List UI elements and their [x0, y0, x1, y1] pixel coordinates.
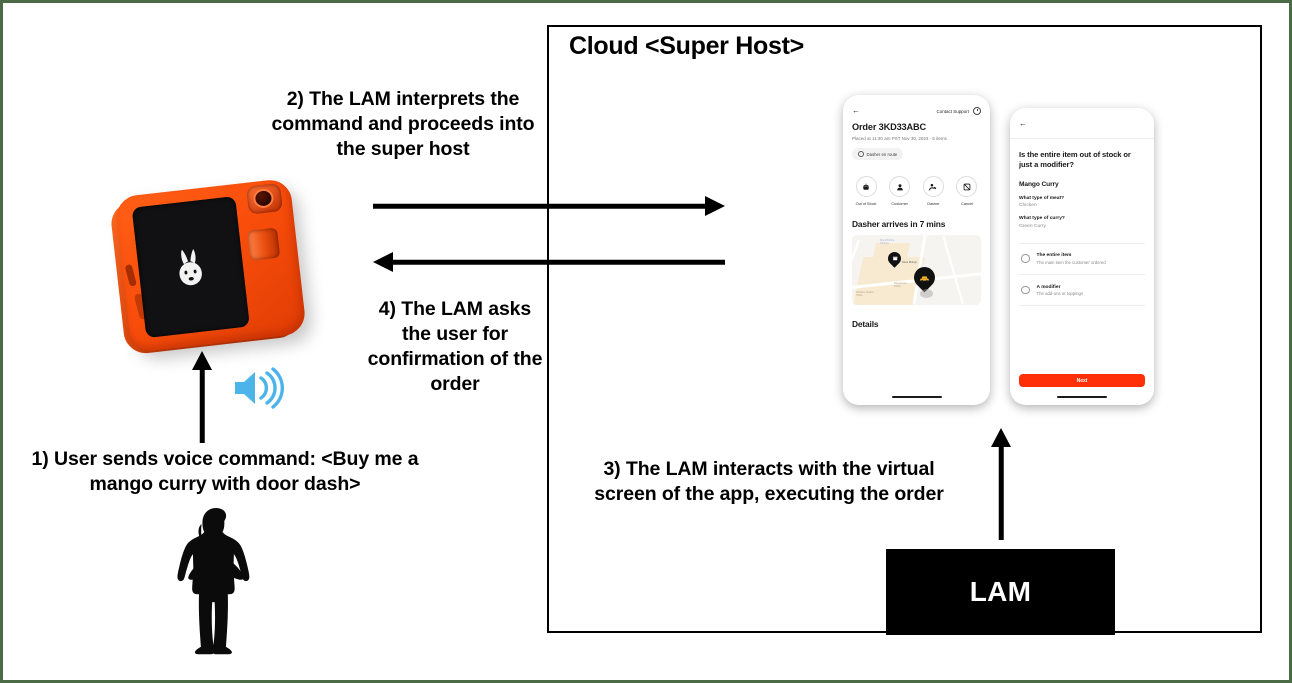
arrow-head [373, 252, 393, 272]
back-arrow-icon[interactable]: ← [852, 107, 860, 115]
map-poi-label: Wilshire Station Office [856, 291, 874, 297]
arrow-shaft [999, 446, 1004, 540]
order-eta-section: Dasher arrives in 7 mins Mid-Wilshire Pa… [843, 219, 990, 329]
lam-label: LAM [970, 576, 1032, 608]
modifier-2: What type of curry? Green Curry [1019, 216, 1145, 229]
radio-button[interactable] [1021, 286, 1030, 295]
arrow-lam-to-screens [990, 428, 1012, 540]
order-topbar: ← Contact Support [843, 95, 990, 119]
option-entire-item[interactable]: The entire item The main item the custom… [1019, 243, 1145, 274]
lam-box: LAM [886, 549, 1115, 635]
rabbit-r1-device[interactable] [102, 168, 326, 368]
option-text: The entire item The main item the custom… [1037, 253, 1106, 265]
option-title: The entire item [1037, 253, 1106, 258]
note-step4: 4) The LAM asks the user for confirmatio… [355, 297, 555, 397]
back-arrow-icon[interactable]: ← [1019, 120, 1027, 128]
modifier-question: What type of curry? [1019, 216, 1145, 221]
action-customer[interactable]: Customer [887, 176, 913, 206]
option-subtitle: The main item the customer ordered [1037, 260, 1106, 265]
option-subtitle: The add-ons or toppings [1037, 291, 1084, 296]
delivery-map[interactable]: Mid-Wilshire Parking Restaurant Plaza Wi… [852, 235, 981, 305]
map-store-label: Store Pickup [902, 261, 917, 264]
arrow-shaft [200, 369, 205, 443]
modifier-question: What type of meat? [1019, 196, 1145, 201]
arrow-head [705, 196, 725, 216]
customer-icon [889, 176, 910, 197]
order-action-row: Out of Stock Customer Dasher Cancel [843, 162, 990, 206]
modifier-1: What type of meat? Chicken [1019, 196, 1145, 209]
option-a-modifier[interactable]: A modifier The add-ons or toppings [1019, 275, 1145, 306]
spacer [1019, 229, 1145, 243]
contact-support-link[interactable]: Contact Support [937, 109, 969, 114]
scroll-wheel[interactable] [247, 228, 280, 261]
diagram-canvas: Cloud <Super Host> 2) The LAM interprets… [0, 0, 1292, 683]
person-silhouette-icon [158, 506, 274, 656]
status-badge: Dasher en route [852, 148, 903, 160]
map-poi-label: Mid-Wilshire Parking [880, 239, 894, 245]
note-step3: 3) The LAM interacts with the virtual sc… [575, 457, 963, 507]
stock-body: Is the entire item out of stock or just … [1010, 139, 1154, 306]
phone-out-of-stock-screen[interactable]: ← Is the entire item out of stock or jus… [1010, 108, 1154, 405]
action-out-of-stock[interactable]: Out of Stock [853, 176, 879, 206]
order-meta: Placed at 11:30 am PST Nov 30, 2023 · 5 … [852, 136, 981, 141]
action-label: Dasher [920, 201, 946, 206]
cancel-order-icon [956, 176, 977, 197]
pin-shadow [920, 289, 933, 298]
modifier-answer: Chicken [1019, 203, 1145, 208]
arrow-cloud-to-step4 [373, 251, 725, 273]
stock-topbar: ← [1010, 108, 1154, 138]
out-of-stock-icon [856, 176, 877, 197]
note-step1: 1) User sends voice command: <Buy me a m… [11, 447, 439, 497]
option-title: A modifier [1037, 285, 1084, 290]
phone-order-screen[interactable]: ← Contact Support Order 3KD33ABC Placed … [843, 95, 990, 405]
action-cancel[interactable]: Cancel [954, 176, 980, 206]
pin-glyph [919, 272, 930, 283]
arrow-shaft [373, 204, 707, 209]
divider [1019, 305, 1145, 306]
status-dot-icon [858, 151, 864, 157]
arrow-user-to-device [191, 351, 213, 443]
action-label: Out of Stock [853, 201, 879, 206]
next-button[interactable]: Next [1019, 374, 1145, 387]
map-poi-label: Restaurant Plaza [894, 282, 907, 288]
clock-help-icon[interactable] [973, 107, 981, 115]
action-dasher[interactable]: Dasher [920, 176, 946, 206]
order-topbar-right: Contact Support [937, 107, 981, 115]
order-header: Order 3KD33ABC Placed at 11:30 am PST No… [843, 122, 990, 162]
order-title: Order 3KD33ABC [852, 122, 981, 132]
map-road [942, 236, 964, 304]
map-road [852, 239, 860, 262]
note-step2: 2) The LAM interprets the command and pr… [258, 87, 548, 162]
item-name: Mango Curry [1019, 181, 1145, 188]
home-indicator [892, 396, 942, 398]
arrow-head [991, 428, 1011, 447]
home-indicator [1057, 396, 1107, 398]
pin-glyph [892, 255, 898, 261]
radio-button[interactable] [1021, 254, 1030, 263]
rabbit-head-icon [172, 245, 210, 289]
speaker-sound-icon [231, 365, 285, 411]
action-label: Customer [887, 201, 913, 206]
camera-icon [246, 183, 283, 215]
status-badge-label: Dasher en route [867, 152, 898, 157]
action-label: Cancel [954, 201, 980, 206]
arrow-shaft [391, 260, 725, 265]
dasher-icon [923, 176, 944, 197]
arrow-step2-to-cloud [373, 195, 725, 217]
eta-heading: Dasher arrives in 7 mins [852, 219, 981, 229]
stock-question: Is the entire item out of stock or just … [1019, 150, 1145, 170]
details-heading: Details [852, 319, 981, 329]
cloud-super-host-title: Cloud <Super Host> [569, 32, 804, 61]
option-text: A modifier The add-ons or toppings [1037, 285, 1084, 297]
device-screen [132, 196, 250, 338]
